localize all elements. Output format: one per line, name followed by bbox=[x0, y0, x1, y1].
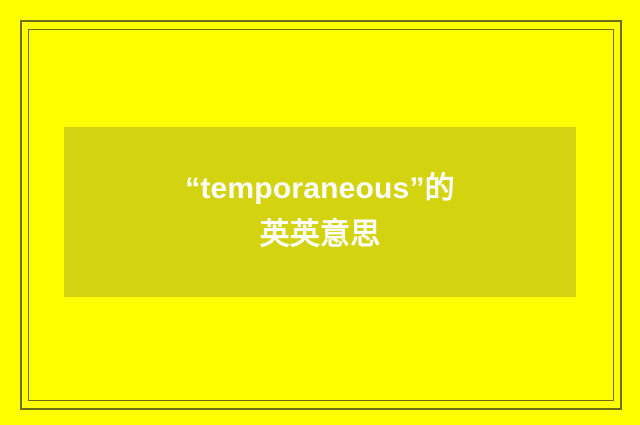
page-title: “temporaneous”的英英意思 bbox=[185, 166, 455, 259]
poster-canvas: “temporaneous”的英英意思 bbox=[0, 0, 640, 425]
title-card: “temporaneous”的英英意思 bbox=[64, 127, 576, 297]
